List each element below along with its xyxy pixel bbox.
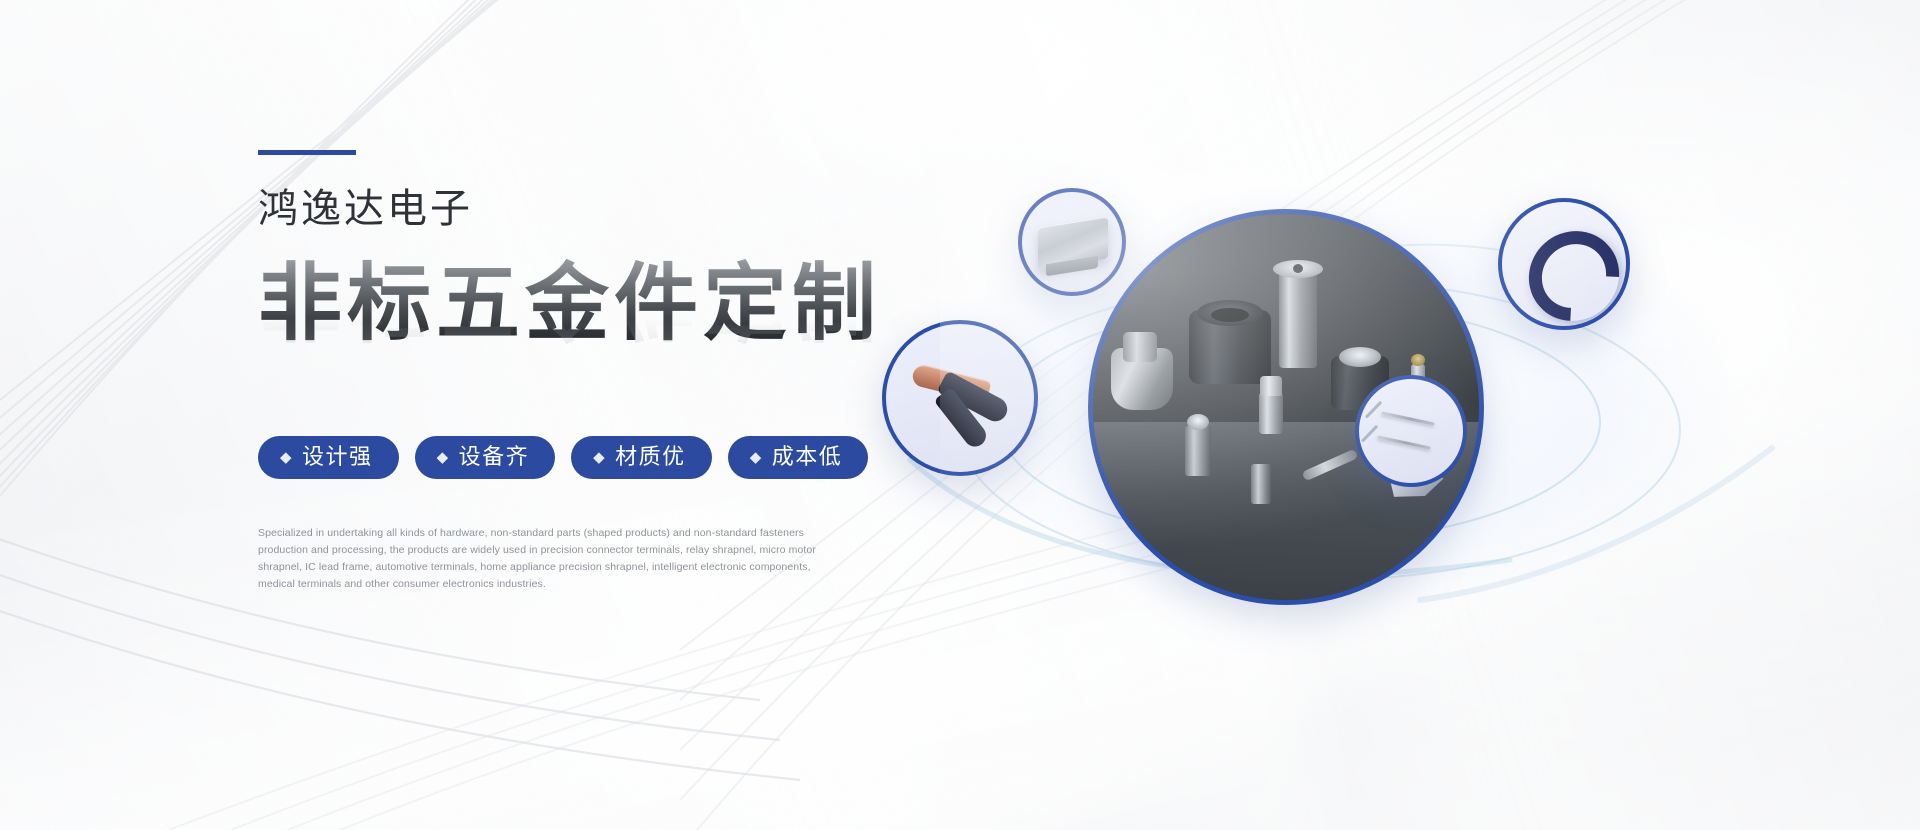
part-small-stud — [1251, 464, 1271, 504]
feature-tag-label: 成本低 — [772, 446, 843, 468]
part-c-shaped-retaining-ring — [1510, 213, 1630, 330]
product-showcase — [900, 130, 1780, 650]
part-flange-connector — [1111, 348, 1173, 410]
terminal-pins-image — [1359, 379, 1463, 483]
description-line: shrapnel, IC lead frame, automotive term… — [258, 559, 820, 576]
part-bent-terminal-pin — [1381, 411, 1434, 425]
hero-banner: 鸿逸达电子 非标五金件定制 非标五金件定制 ◆ 设计强 ◆ 设备齐 ◆ 材质优 … — [0, 0, 1920, 830]
feature-tag-material[interactable]: ◆ 材质优 — [571, 436, 712, 479]
product-bubble-metal-enclosure[interactable] — [1018, 188, 1126, 296]
part-metal-enclosure — [1038, 216, 1108, 269]
diamond-icon: ◆ — [437, 450, 450, 465]
feature-tag-label: 设备齐 — [459, 446, 530, 468]
product-bubble-battery-clamp[interactable] — [882, 320, 1038, 476]
feature-tag-cost[interactable]: ◆ 成本低 — [728, 436, 869, 479]
feature-tag-equipment[interactable]: ◆ 设备齐 — [415, 436, 556, 479]
metal-enclosure-image — [1022, 192, 1122, 292]
feature-tag-design[interactable]: ◆ 设计强 — [258, 436, 399, 479]
diamond-icon: ◆ — [593, 450, 606, 465]
product-bubble-terminal-pins[interactable] — [1355, 375, 1467, 487]
retaining-ring-image — [1502, 202, 1626, 326]
accent-rule — [258, 150, 356, 155]
feature-tag-label: 设计强 — [302, 446, 373, 468]
part-small-bushing — [1185, 426, 1211, 476]
part-cylindrical-pin — [1279, 272, 1317, 368]
part-hex-socket — [1189, 310, 1271, 384]
description-line: medical terminals and other consumer ele… — [258, 576, 820, 593]
battery-clamp-image — [886, 324, 1034, 472]
product-bubble-retaining-ring[interactable] — [1498, 198, 1630, 330]
part-bent-terminal-pin — [1377, 435, 1430, 449]
company-description: Specialized in undertaking all kinds of … — [258, 525, 820, 593]
description-line: Specialized in undertaking all kinds of … — [258, 525, 820, 542]
diamond-icon: ◆ — [750, 450, 763, 465]
part-plug-insert — [1259, 392, 1283, 434]
feature-tag-label: 材质优 — [615, 446, 686, 468]
description-line: production and processing, the products … — [258, 542, 820, 559]
diamond-icon: ◆ — [280, 450, 293, 465]
